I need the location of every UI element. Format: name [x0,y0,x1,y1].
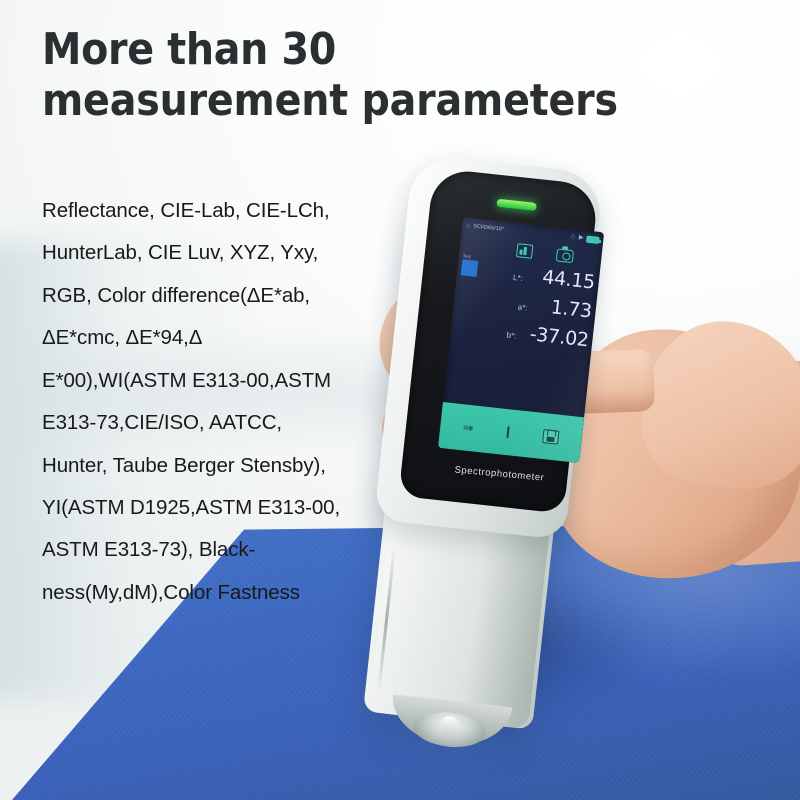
color-swatch [461,259,479,277]
measure-button[interactable]: 测量 [463,424,474,432]
bottom-bar-divider [506,426,509,438]
reading-key-b: b*: [500,330,517,341]
status-spacer [507,230,566,236]
camera-icon[interactable] [555,248,573,263]
battery-icon [586,235,600,243]
reading-value-b: -37.02 [522,322,590,351]
reading-value-l: 44.15 [528,265,596,294]
save-button[interactable] [542,429,559,445]
home-icon[interactable]: ⌂ [466,222,471,229]
lab-readings-list: L*: 44.15 a*: 1.73 b*: -37.02 [469,259,596,358]
device-screen[interactable]: ⌂ SCI/D65/10° ☃ ▶ Test [438,217,604,463]
reading-key-l: L*: [506,272,523,283]
chart-icon[interactable] [515,243,532,259]
status-led-indicator [496,199,537,211]
device-brand-label: Spectrophotometer [429,462,569,486]
headline-line-1: More than 30 [42,24,336,75]
device-head: ⌂ SCI/D65/10° ☃ ▶ Test [374,153,605,540]
screen-bottom-bar: 测量 [438,402,584,463]
measure-button-label: 测量 [463,424,474,432]
reading-value-a: 1.73 [533,294,593,322]
parameter-list-text: Reflectance, CIE-Lab, CIE-LCh, HunterLab… [42,190,402,614]
reading-row-a: a*: 1.73 [473,288,593,323]
promo-image-canvas: More than 30 measurement parameters Refl… [0,0,800,800]
measurement-mode-label: SCI/D65/10° [473,223,505,232]
page-title: More than 30 measurement parameters [42,24,742,126]
reading-row-b: b*: -37.02 [470,317,590,352]
reading-key-a: a*: [511,302,528,313]
signal-icon: ▶ [578,235,583,241]
headline-line-2: measurement parameters [42,75,742,126]
device-front-panel: ⌂ SCI/D65/10° ☃ ▶ Test [399,168,600,514]
save-icon [542,429,559,445]
bluetooth-icon: ☃ [569,233,576,241]
